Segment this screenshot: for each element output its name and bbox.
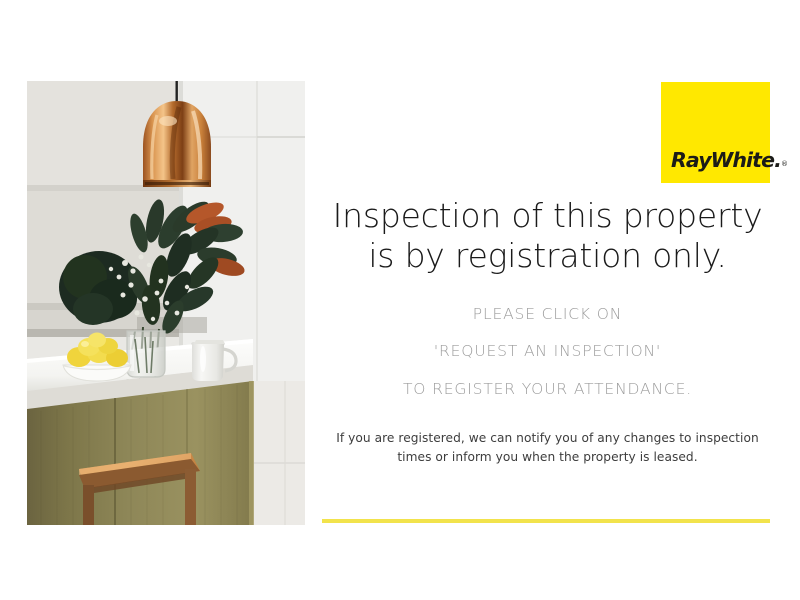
instruction-line-3: TO REGISTER YOUR ATTENDANCE. — [310, 382, 785, 398]
instruction-line-1: PLEASE CLICK ON — [310, 307, 785, 323]
raywhite-wordmark: RayWhite.® — [671, 150, 788, 171]
page-title: Inspection of this property is by regist… — [310, 196, 785, 277]
logo-period: . — [774, 148, 781, 172]
property-photo — [27, 81, 305, 525]
instruction-block: PLEASE CLICK ON 'REQUEST AN INSPECTION' … — [310, 307, 785, 398]
property-photo-illustration — [27, 81, 305, 525]
notice-content: Inspection of this property is by regist… — [310, 196, 785, 479]
headline-line-2: is by registration only. — [310, 236, 785, 276]
inspection-notice-card: RayWhite.® Inspection of this property i… — [0, 0, 800, 600]
registration-note: If you are registered, we can notify you… — [310, 429, 785, 467]
instruction-line-2: 'REQUEST AN INSPECTION' — [310, 344, 785, 360]
headline-line-1: Inspection of this property — [310, 196, 785, 236]
logo-text: RayWhite — [671, 148, 774, 172]
logo-trademark-icon: ® — [781, 160, 788, 168]
yellow-divider — [322, 519, 770, 523]
raywhite-logo: RayWhite.® — [661, 82, 770, 183]
